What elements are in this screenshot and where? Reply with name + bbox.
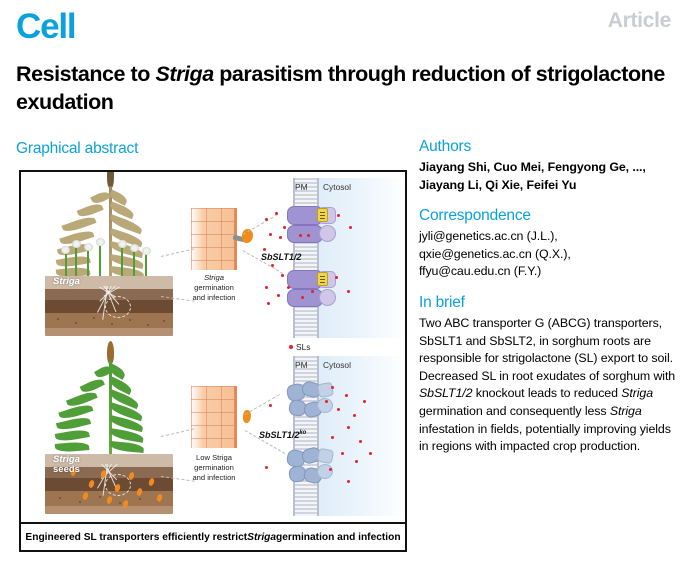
in-brief-heading: In brief: [419, 294, 677, 312]
graphical-abstract-heading: Graphical abstract: [16, 140, 138, 158]
leaf-icon: [55, 441, 90, 453]
correspondence-list: jyli@genetics.ac.cn (J.L.), qxie@genetic…: [419, 228, 677, 281]
striga-flower-icon: [130, 244, 139, 252]
cytosol-region: [307, 178, 407, 338]
pm-label: PM: [295, 360, 308, 370]
in-brief-seg-4: infestation in fields, potentially impro…: [419, 422, 671, 454]
leaf-icon: [90, 189, 111, 205]
leaf-icon: [56, 254, 91, 269]
in-brief-seg-3: germination and consequently less: [419, 404, 610, 418]
zoom-caption-top: Striga germination and infection: [174, 273, 254, 303]
transporter-knockout-2: [287, 448, 343, 492]
cytosol-label: Cytosol: [323, 360, 351, 370]
authors-section: Authors Jiayang Shi, Cuo Mei, Fengyong G…: [419, 138, 677, 194]
membrane-diagram-knockout: PM Cytosol: [259, 356, 407, 516]
scene-wildtype-plant: Striga: [35, 178, 185, 338]
root-cell-wall: [191, 386, 237, 448]
pm-label: PM: [295, 182, 308, 192]
caption-segment-1: Engineered SL transporters efficiently r…: [25, 532, 247, 543]
gene-label-knockout: SbSLT1/2ko: [259, 430, 306, 440]
soil-profile: Striga: [45, 276, 173, 336]
striga-flower-icon: [72, 240, 81, 248]
striga-flower-icon: [96, 238, 105, 246]
cytosol-region: [307, 356, 407, 516]
in-brief-gene-1: SbSLT1/2: [419, 386, 472, 400]
title-segment-1: Resistance to: [16, 62, 155, 86]
cytosol-label: Cytosol: [323, 182, 351, 192]
right-column: Authors Jiayang Shi, Cuo Mei, Fengyong G…: [419, 138, 677, 469]
authors-line-2: Jiayang Li, Qi Xie, Feifei Yu: [419, 177, 677, 195]
article-type-label: Article: [608, 9, 671, 33]
leaf-icon: [55, 428, 90, 443]
sl-legend-label: SLs: [296, 342, 310, 352]
soil-layer-5: [45, 328, 173, 336]
soil-profile: Striga seeds: [45, 454, 173, 514]
soil-label-striga-seeds: Striga seeds: [53, 455, 80, 475]
soil-label-striga: Striga: [53, 277, 80, 287]
graphical-abstract-figure: Striga Striga germination and infection …: [19, 170, 407, 552]
infection-halo: [105, 296, 131, 318]
panel-knockout: Striga seeds Low Striga germination and …: [21, 352, 405, 520]
in-brief-organism-2: Striga: [610, 404, 642, 418]
zoom-caption-bottom: Low Striga germination and infection: [174, 453, 254, 483]
in-brief-section: In brief Two ABC transporter G (ABCG) tr…: [419, 294, 677, 456]
journal-logo: Cell: [16, 9, 75, 44]
in-brief-seg-1: Two ABC transporter G (ABCG) transporter…: [419, 316, 675, 383]
correspondence-section: Correspondence jyli@genetics.ac.cn (J.L.…: [419, 207, 677, 281]
in-brief-organism-1: Striga: [621, 386, 653, 400]
graphical-abstract-caption: Engineered SL transporters efficiently r…: [21, 522, 405, 550]
correspondence-heading: Correspondence: [419, 207, 677, 225]
sl-legend-dot: [289, 345, 293, 349]
root-cell-zoom: [191, 386, 237, 448]
soil-layer-5: [45, 506, 173, 514]
membrane-diagram-wildtype: PM Cytosol: [259, 178, 407, 338]
in-brief-text: Two ABC transporter G (ABCG) transporter…: [419, 315, 677, 456]
panel-wildtype: Striga Striga germination and infection …: [21, 174, 405, 342]
striga-flower-icon: [142, 247, 151, 255]
leaf-icon: [110, 441, 145, 453]
striga-flower-icon: [118, 240, 127, 248]
transporter-knockout-1: [287, 382, 343, 426]
root-cell-wall: [191, 208, 237, 270]
authors-list: Jiayang Shi, Cuo Mei, Fengyong Ge, ..., …: [419, 159, 677, 194]
gene-label-wildtype: SbSLT1/2: [261, 252, 301, 262]
root-cell-zoom: [191, 208, 237, 270]
correspondence-email-3[interactable]: ffyu@cau.edu.cn (F.Y.): [419, 263, 677, 281]
page-title: Resistance to Striga parasitism through …: [16, 61, 671, 116]
sl-legend: SLs: [289, 342, 310, 352]
authors-heading: Authors: [419, 138, 677, 156]
correspondence-email-1[interactable]: jyli@genetics.ac.cn (J.L.),: [419, 228, 677, 246]
title-organism: Striga: [155, 62, 213, 86]
in-brief-seg-2: knockout leads to reduced: [472, 386, 621, 400]
transporter-sbslt-1: [287, 206, 343, 250]
authors-line-1: Jiayang Shi, Cuo Mei, Fengyong Ge, ...,: [419, 159, 677, 177]
striga-flower-icon: [61, 246, 70, 254]
caption-organism: Striga: [247, 532, 276, 543]
correspondence-email-2[interactable]: qxie@genetics.ac.cn (Q.X.),: [419, 246, 677, 264]
caption-segment-2: germination and infection: [276, 532, 401, 543]
striga-flower-icon: [84, 243, 93, 251]
